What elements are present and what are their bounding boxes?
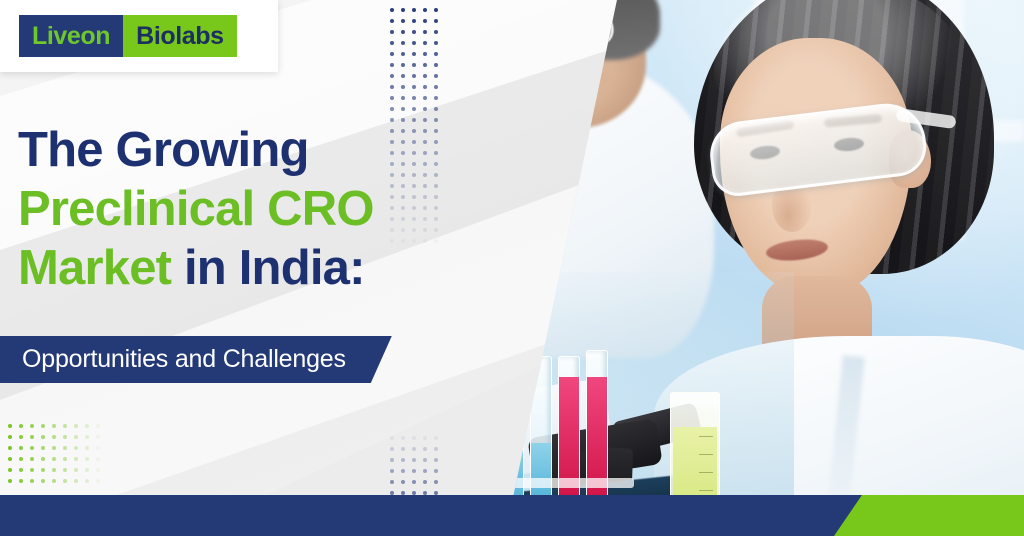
dot: [74, 446, 78, 450]
dot: [423, 41, 427, 45]
dot: [412, 436, 416, 440]
dot: [401, 447, 405, 451]
dot: [85, 468, 89, 472]
dot: [63, 446, 67, 450]
dot: [41, 424, 45, 428]
dot: [423, 19, 427, 23]
dot: [96, 446, 100, 450]
dot: [390, 480, 394, 484]
dot: [96, 435, 100, 439]
dot: [412, 447, 416, 451]
dot: [74, 457, 78, 461]
headline-line-3-navy: in India:: [171, 241, 364, 295]
headline-line-3-green: Market: [18, 241, 171, 295]
dot: [30, 457, 34, 461]
dot: [412, 19, 416, 23]
logo-liveon: Liveon: [19, 15, 123, 57]
dot: [434, 30, 438, 34]
dot: [63, 457, 67, 461]
bottom-bar-navy: [0, 495, 880, 536]
dot: [434, 63, 438, 67]
dot: [390, 447, 394, 451]
dot: [434, 41, 438, 45]
lab-bench: [504, 272, 794, 512]
dot: [19, 424, 23, 428]
dot: [390, 107, 394, 111]
bottom-bar-green: [834, 495, 1024, 536]
dot: [41, 479, 45, 483]
dot: [434, 19, 438, 23]
dot: [423, 447, 427, 451]
dot: [85, 435, 89, 439]
dot-grid-bottom-left: [8, 424, 118, 490]
dot: [74, 424, 78, 428]
dot: [30, 479, 34, 483]
headline-line-1: The Growing: [18, 121, 518, 180]
dot: [423, 458, 427, 462]
dot: [96, 468, 100, 472]
headline-line-2: Preclinical CRO: [18, 180, 518, 239]
dot: [390, 469, 394, 473]
dot: [434, 458, 438, 462]
dot: [401, 52, 405, 56]
dot: [412, 30, 416, 34]
dot: [434, 85, 438, 89]
dot: [423, 52, 427, 56]
logo[interactable]: Liveon Biolabs: [19, 15, 237, 57]
dot: [8, 446, 12, 450]
dot: [434, 107, 438, 111]
dot: [74, 468, 78, 472]
dot: [434, 480, 438, 484]
dot: [401, 469, 405, 473]
dot: [401, 41, 405, 45]
dot: [85, 457, 89, 461]
dot: [401, 107, 405, 111]
dot: [52, 446, 56, 450]
dot: [8, 424, 12, 428]
dot: [390, 63, 394, 67]
dot: [19, 435, 23, 439]
dot: [41, 435, 45, 439]
dot: [401, 19, 405, 23]
dot: [52, 457, 56, 461]
dot: [401, 85, 405, 89]
cylinder-tick: [699, 490, 713, 491]
dot: [390, 19, 394, 23]
dot: [8, 457, 12, 461]
dot: [401, 436, 405, 440]
dot: [434, 96, 438, 100]
dot: [423, 74, 427, 78]
dot: [434, 469, 438, 473]
dot: [412, 480, 416, 484]
dot: [30, 446, 34, 450]
dot: [412, 63, 416, 67]
dot: [434, 74, 438, 78]
graduated-cylinder: [670, 392, 720, 512]
marketing-banner: Liveon Biolabs The Growing Preclinical C…: [0, 0, 1024, 536]
dot: [19, 446, 23, 450]
rack-bar: [504, 478, 634, 488]
dot: [19, 479, 23, 483]
dot: [74, 479, 78, 483]
dot: [52, 424, 56, 428]
dot: [434, 447, 438, 451]
bottom-bar: [0, 495, 1024, 536]
dot: [412, 96, 416, 100]
dot: [390, 458, 394, 462]
headline-block: The Growing Preclinical CRO Market in In…: [18, 121, 518, 298]
dot: [401, 480, 405, 484]
dot: [52, 468, 56, 472]
cylinder-tick: [699, 436, 713, 437]
dot: [30, 468, 34, 472]
dot: [434, 52, 438, 56]
subtitle-ribbon: Opportunities and Challenges: [0, 336, 392, 383]
dot: [423, 480, 427, 484]
dot: [423, 96, 427, 100]
dot: [41, 457, 45, 461]
dot: [423, 30, 427, 34]
headline-line-3: Market in India:: [18, 239, 518, 298]
dot: [52, 435, 56, 439]
dot: [96, 424, 100, 428]
dot: [412, 85, 416, 89]
dot: [401, 8, 405, 12]
dot: [412, 52, 416, 56]
dot: [434, 8, 438, 12]
dot: [390, 52, 394, 56]
dot: [30, 424, 34, 428]
dot: [19, 457, 23, 461]
dot: [423, 107, 427, 111]
dot: [30, 435, 34, 439]
dot: [8, 435, 12, 439]
dot: [390, 436, 394, 440]
dot: [401, 458, 405, 462]
dot: [41, 446, 45, 450]
dot: [412, 458, 416, 462]
dot: [412, 8, 416, 12]
dot: [390, 30, 394, 34]
dot: [41, 468, 45, 472]
dot: [19, 468, 23, 472]
dot: [423, 8, 427, 12]
dot: [390, 74, 394, 78]
dot: [96, 479, 100, 483]
dot: [401, 63, 405, 67]
dot: [85, 446, 89, 450]
dot: [401, 74, 405, 78]
dot: [63, 468, 67, 472]
dot: [423, 436, 427, 440]
cylinder-tick: [699, 454, 713, 455]
dot: [8, 468, 12, 472]
cylinder-tick: [699, 472, 713, 473]
dot: [423, 469, 427, 473]
dot: [401, 30, 405, 34]
dot: [434, 436, 438, 440]
dot: [423, 63, 427, 67]
dot: [85, 424, 89, 428]
logo-biolabs: Biolabs: [123, 15, 237, 57]
dot: [412, 74, 416, 78]
dot: [390, 41, 394, 45]
dot: [401, 96, 405, 100]
subtitle-text: Opportunities and Challenges: [22, 345, 346, 374]
dot: [74, 435, 78, 439]
dot: [63, 479, 67, 483]
dot: [412, 107, 416, 111]
dot: [96, 457, 100, 461]
dot: [63, 435, 67, 439]
dot: [390, 96, 394, 100]
dot: [423, 85, 427, 89]
dot: [412, 469, 416, 473]
dot: [390, 85, 394, 89]
dot: [390, 8, 394, 12]
dot: [85, 479, 89, 483]
dot: [52, 479, 56, 483]
dot: [412, 41, 416, 45]
logo-plate[interactable]: Liveon Biolabs: [0, 0, 278, 72]
dot: [8, 479, 12, 483]
dot: [63, 424, 67, 428]
